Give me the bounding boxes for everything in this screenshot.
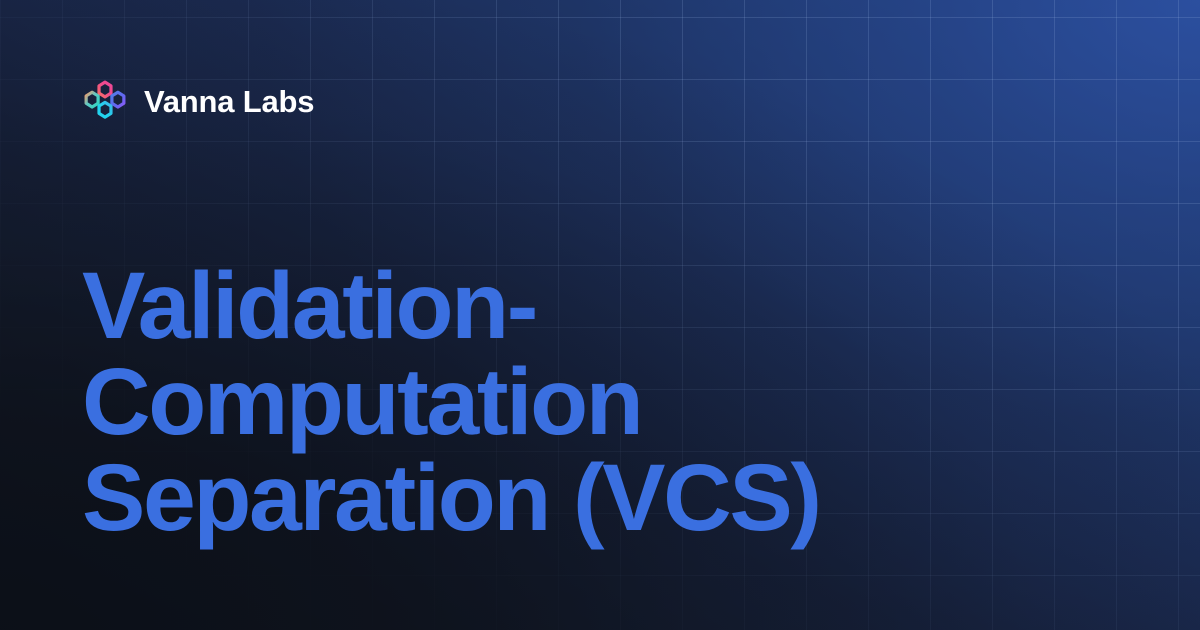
- card-content: Vanna Labs Validation- Computation Separ…: [0, 0, 1200, 630]
- brand-name: Vanna Labs: [144, 86, 314, 117]
- brand-lockup: Vanna Labs: [82, 78, 314, 124]
- vanna-clover-logo-icon: [82, 78, 128, 124]
- og-card: Vanna Labs Validation- Computation Separ…: [0, 0, 1200, 630]
- page-title: Validation- Computation Separation (VCS): [82, 258, 1092, 546]
